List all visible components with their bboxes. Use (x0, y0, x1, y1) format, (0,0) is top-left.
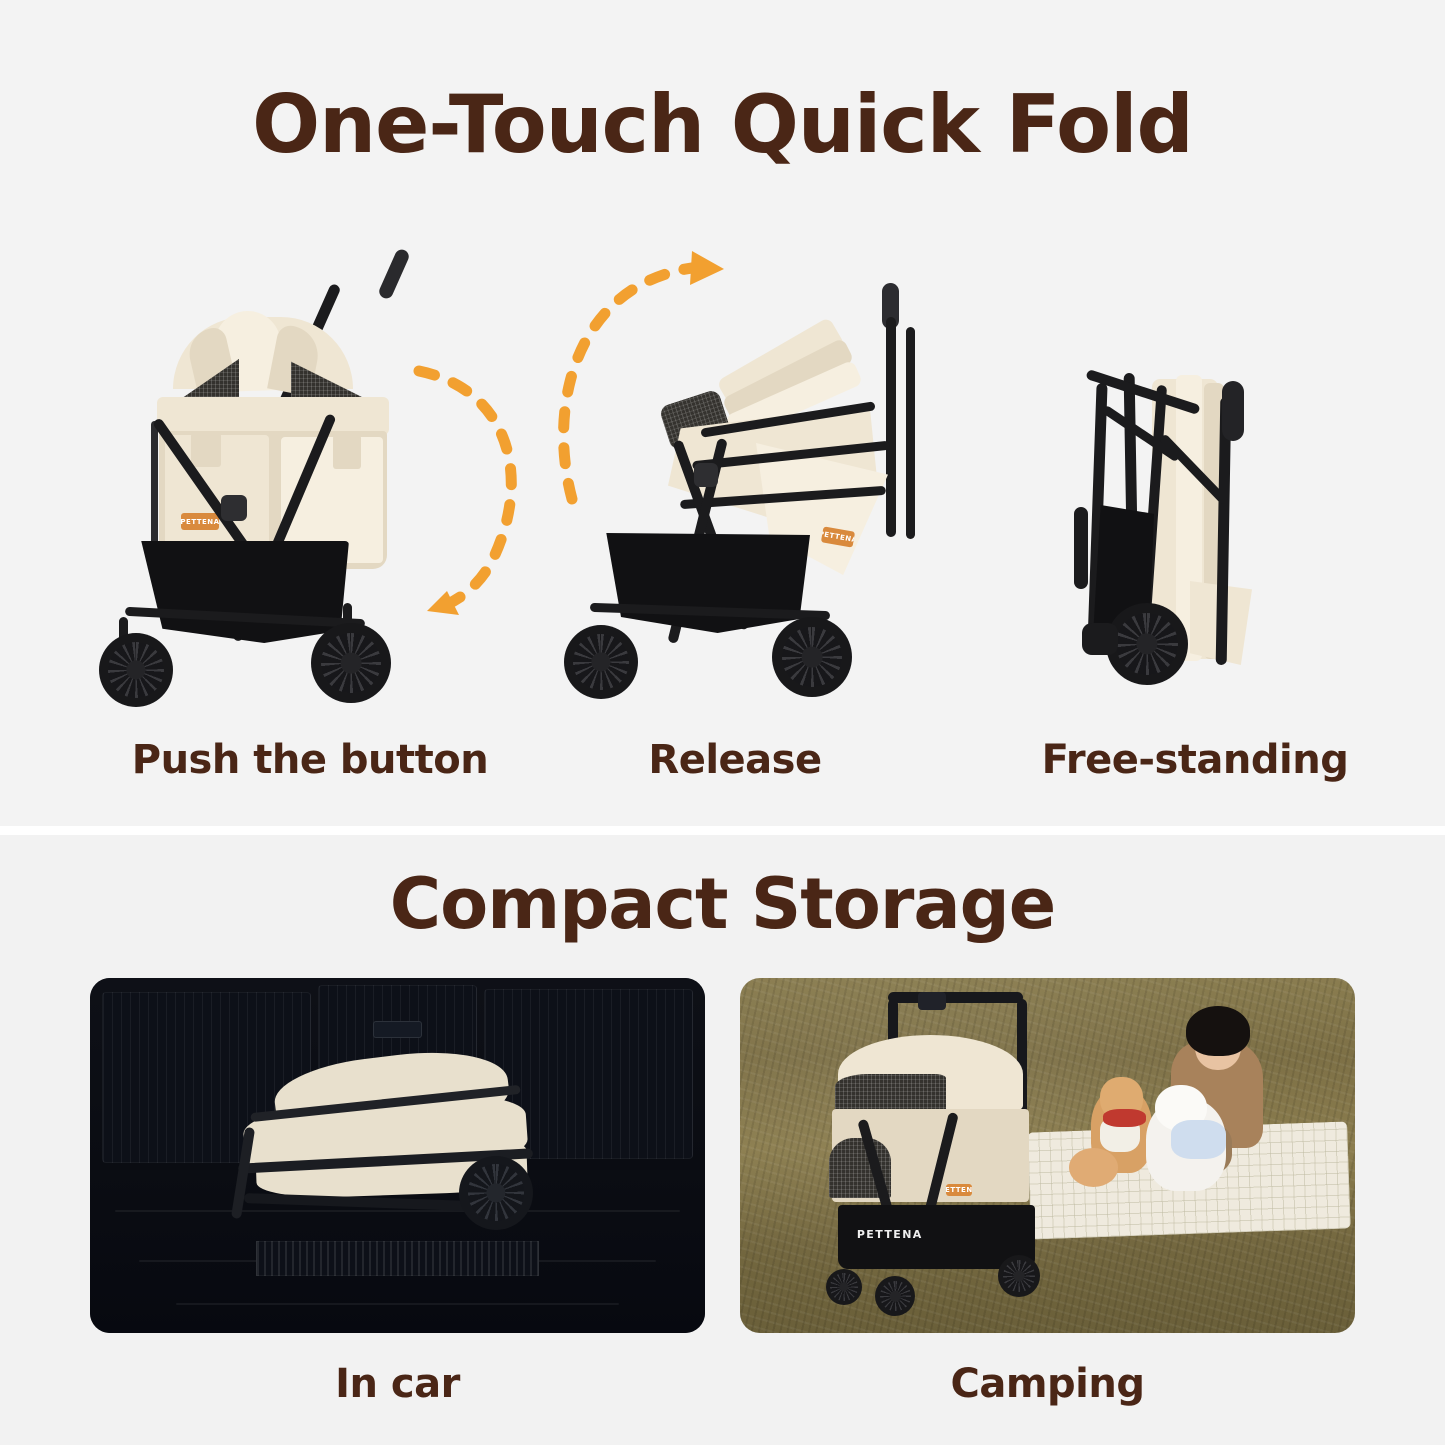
person-hair (1186, 1006, 1251, 1056)
frame-joint-center (221, 495, 247, 521)
camp-stroller-handle (888, 992, 1023, 1003)
caption-step-3: Free-standing (960, 736, 1430, 784)
caption-in-car: In car (90, 1360, 705, 1408)
handle-tube (886, 317, 896, 537)
camp-stroller-basket-brand: PETTENA (857, 1228, 923, 1241)
cabin-pocket-right (333, 435, 361, 469)
camp-stroller-wheel-front-left (826, 1269, 862, 1305)
caption-step-2: Release (520, 736, 950, 784)
infographic-page: One-Touch Quick Fold PETTENA (0, 0, 1445, 1445)
stroller-illustration-folded (1040, 355, 1320, 715)
section-compact-storage: Compact Storage (0, 835, 1445, 1445)
stroller-illustration-unfolded: PETTENA (95, 245, 525, 715)
stroller-illustration-releasing: PETTENA (560, 255, 960, 715)
page-title-quick-fold: One-Touch Quick Fold (0, 78, 1445, 172)
camp-stroller-brand-patch: PETTENA (946, 1184, 972, 1196)
cabin-strap-left (151, 421, 158, 547)
wheel-bracket (1082, 623, 1118, 655)
handle-tube-secondary (906, 327, 915, 539)
wheel-front (99, 633, 173, 707)
camp-stroller-handle-clamp (918, 992, 946, 1010)
handle-grip (377, 247, 411, 300)
frame-hook-left (1074, 507, 1088, 589)
photo-camping: PETTENA PETTENA (740, 978, 1355, 1333)
fold-direction-arrow (544, 249, 764, 519)
cabin-pocket-left (191, 433, 221, 467)
storage-basket (137, 541, 349, 643)
section-divider (0, 826, 1445, 835)
wheel-rear (772, 617, 852, 697)
camp-stroller-wheel-rear (998, 1255, 1040, 1297)
wheel-rear (311, 623, 391, 703)
page-title-compact-storage: Compact Storage (0, 862, 1445, 946)
wheel-lower (1106, 603, 1188, 685)
handle-grip (1222, 381, 1244, 441)
caption-camping: Camping (740, 1360, 1355, 1408)
brand-patch: PETTENA (181, 513, 219, 530)
folded-stroller-wheel (459, 1156, 533, 1230)
dog-shiba-bandana (1103, 1109, 1146, 1127)
cabin-rim (157, 397, 389, 435)
photo-in-car (90, 978, 705, 1333)
wheel-front (564, 625, 638, 699)
section-one-touch-quick-fold: One-Touch Quick Fold PETTENA (0, 0, 1445, 826)
caption-step-1: Push the button (60, 736, 560, 784)
fold-direction-arrow (375, 363, 555, 613)
dog-bichon-outfit (1171, 1120, 1226, 1159)
car-trunk-interior (90, 978, 705, 1333)
